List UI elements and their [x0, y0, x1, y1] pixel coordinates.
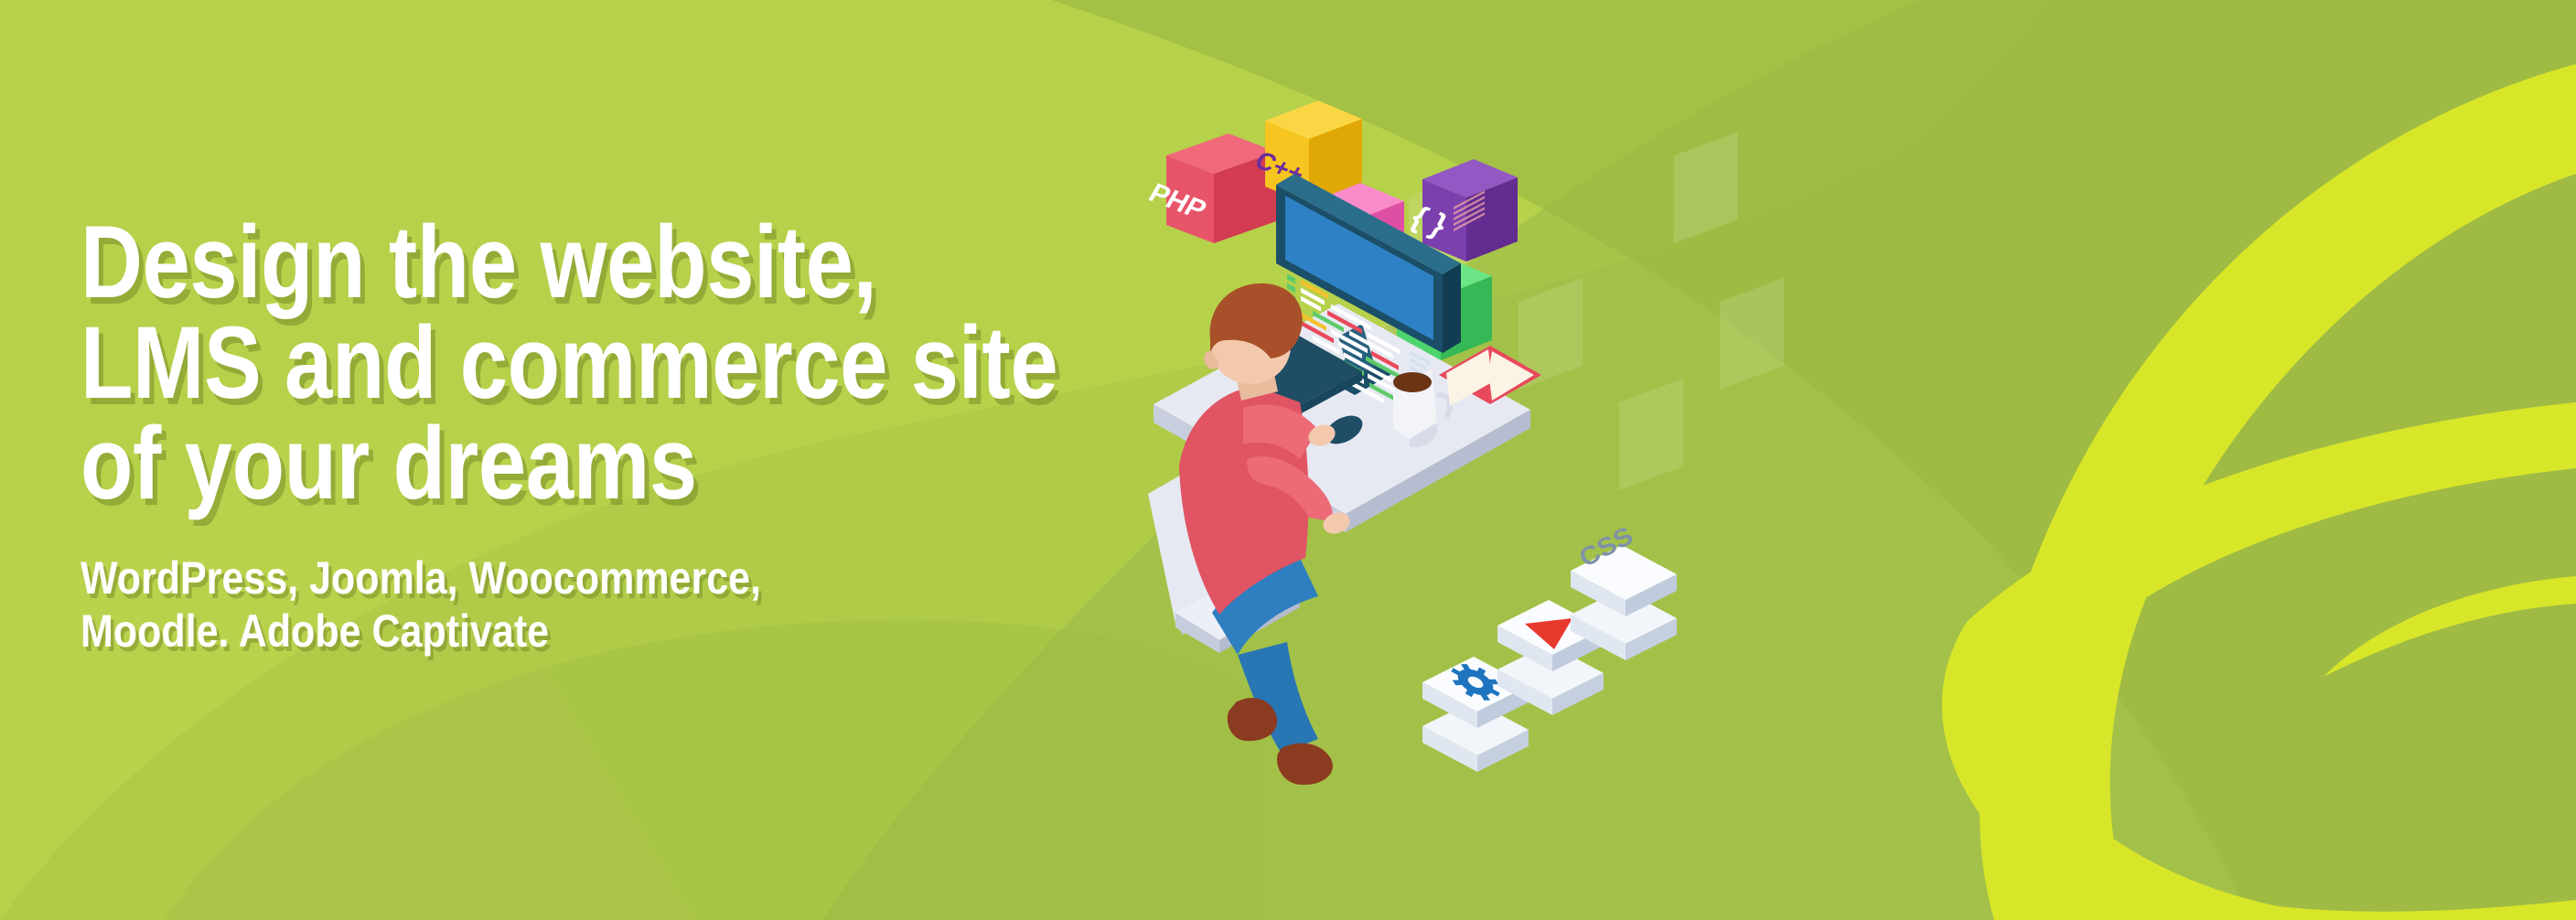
- page-title: Design the website, LMS and commerce sit…: [80, 212, 1041, 513]
- hero-copy: Design the website, LMS and commerce sit…: [80, 212, 1224, 658]
- person-shoe-front: [1277, 743, 1333, 786]
- page-subtitle: WordPress, Joomla, Woocommerce, Moodle. …: [80, 551, 1064, 658]
- monitor-bezel-side: [1443, 263, 1461, 353]
- hero-banner: Design the website, LMS and commerce sit…: [0, 0, 2576, 920]
- mug-coffee: [1393, 372, 1432, 392]
- slab-css: CSS: [1571, 521, 1677, 660]
- illustration-developer-at-desk: PHP C++ { }: [1148, 101, 1715, 823]
